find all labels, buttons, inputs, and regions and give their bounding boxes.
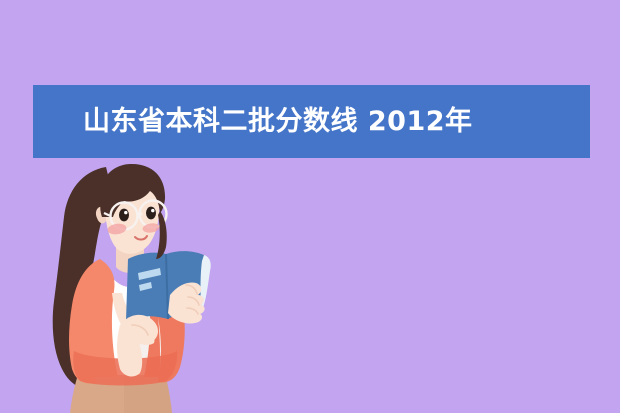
eye-right [146,207,156,220]
girl-reading-illustration [20,155,240,413]
eye-left-highlight [124,211,127,214]
eye-right-highlight [151,209,154,212]
slide-canvas: 山东省本科二批分数线 2012年 [0,0,620,413]
title-banner: 山东省本科二批分数线 2012年 [33,85,590,158]
eye-left [119,209,129,222]
page-title: 山东省本科二批分数线 2012年 [83,108,473,135]
